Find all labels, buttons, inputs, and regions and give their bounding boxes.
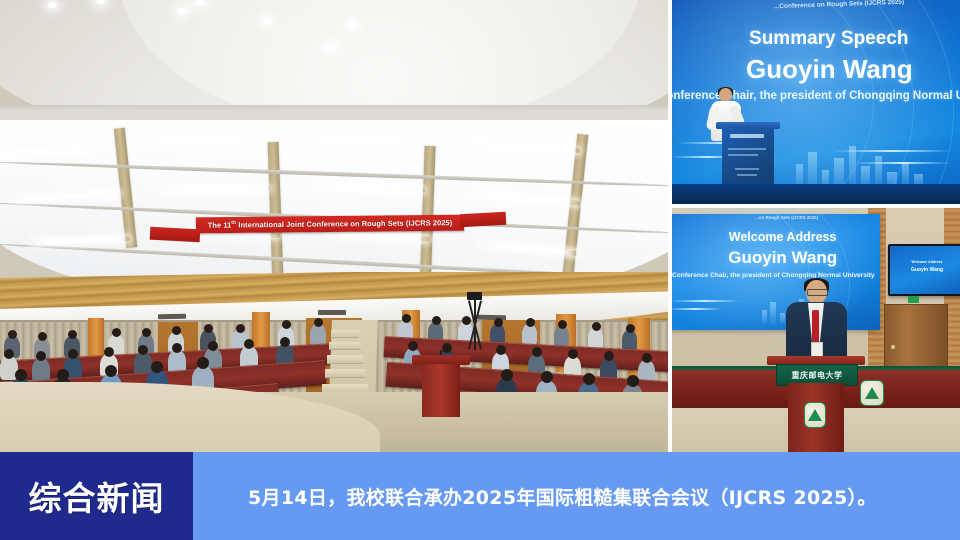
speaker-badge	[811, 342, 823, 357]
audience-head	[172, 343, 182, 353]
exit-sign-icon	[908, 296, 919, 303]
audience-head	[15, 369, 27, 381]
lectern-logo	[730, 134, 764, 138]
speaker-head	[719, 88, 732, 102]
audience-head	[38, 332, 47, 341]
podium: 重庆邮电大学	[772, 356, 860, 452]
lectern-text-line	[728, 154, 758, 156]
lectern-text-line	[735, 168, 759, 170]
monitor-line1: Welcome Address	[912, 260, 943, 264]
audience-person	[32, 358, 50, 382]
red-banner-right-tail	[460, 212, 507, 227]
audience-head	[138, 345, 148, 355]
ceiling-downlight	[178, 8, 187, 14]
podium-nameplate-text: 重庆邮电大学	[792, 370, 843, 381]
audience-head	[408, 341, 418, 351]
audience-head	[172, 326, 181, 335]
air-vent	[158, 314, 186, 319]
main-auditorium-photo: The 11th International Joint Conference …	[0, 0, 668, 452]
emblem-triangle	[808, 409, 822, 421]
audience-head	[36, 351, 46, 361]
audience-head	[432, 316, 441, 325]
light-streak	[672, 308, 722, 310]
audience-head	[8, 330, 17, 339]
audience-head	[57, 369, 69, 381]
audience-head	[142, 328, 151, 337]
light-streak	[852, 162, 952, 164]
podium-emblem	[804, 402, 826, 428]
audience-head	[526, 318, 535, 327]
conference-red-banner: The 11th International Joint Conference …	[196, 215, 464, 234]
red-banner-left-tail	[150, 227, 201, 243]
ceiling-downlight	[196, 0, 205, 6]
slide-title-line2: Guoyin Wang	[728, 248, 837, 268]
audience-person	[522, 324, 537, 345]
audience-head	[208, 341, 218, 351]
audience-head	[151, 361, 163, 373]
caption-text: 5月14日，我校联合承办2025年国际粗糙集联合会议（IJCRS 2025）。	[248, 483, 877, 510]
slide-subtitle: Conference Chair, the president of Chong…	[672, 272, 875, 279]
ceiling-downlight	[48, 2, 57, 8]
video-camera	[467, 292, 482, 300]
audience-head	[558, 320, 567, 329]
camera-tripod	[462, 292, 488, 350]
ceiling-light-strip	[160, 186, 270, 191]
audience-head	[68, 349, 78, 359]
audience-head	[442, 343, 452, 353]
audience-head	[494, 318, 503, 327]
audience-head	[496, 345, 506, 355]
monitor-line2: Guoyin Wang	[911, 267, 943, 273]
audience-head	[627, 375, 639, 387]
audience-head	[501, 369, 513, 381]
audience-head	[592, 322, 601, 331]
aisle-step	[325, 369, 365, 378]
audience-head	[236, 324, 245, 333]
audience-head	[282, 320, 291, 329]
emblem-triangle	[865, 387, 879, 399]
audience-head	[197, 357, 209, 369]
audience-head	[402, 314, 411, 323]
skyline-tower	[762, 310, 767, 324]
hall-podium	[418, 355, 464, 417]
audience-head	[532, 347, 542, 357]
audience-head	[314, 318, 323, 327]
audience-head	[112, 328, 121, 337]
lectern-text-line	[737, 174, 757, 176]
light-streak	[832, 150, 952, 152]
audience-head	[604, 351, 614, 361]
university-emblem	[860, 380, 884, 406]
audience-head	[68, 330, 77, 339]
slide-title-line2: Guoyin Wang	[746, 54, 913, 85]
category-tag-text: 综合新闻	[29, 472, 165, 520]
audience-head	[204, 324, 213, 333]
skyline-tower	[770, 302, 776, 324]
slide-title-line1: Summary Speech	[749, 28, 908, 50]
bottom-right-photo: ...on Rough Sets (IJCRS 2025) Welcome Ad…	[672, 208, 960, 452]
lectern-text-line	[728, 148, 766, 150]
stage-floor	[672, 184, 960, 204]
audience-head	[280, 337, 290, 347]
caption-body: 5月14日，我校联合承办2025年国际粗糙集联合会议（IJCRS 2025）。	[193, 452, 960, 540]
light-streak	[672, 300, 740, 302]
audience-head	[583, 373, 595, 385]
news-image-composite: The 11th International Joint Conference …	[0, 0, 960, 540]
red-banner-text: The 11th International Joint Conference …	[208, 218, 453, 230]
ceiling-downlight	[326, 44, 335, 50]
speaker-glasses	[807, 289, 828, 296]
speaker-lanyard	[812, 310, 819, 346]
category-tag: 综合新闻	[0, 452, 193, 540]
audience-head	[626, 324, 635, 333]
audience-head	[244, 339, 254, 349]
wall-monitor: Welcome Address Guoyin Wang	[888, 244, 960, 296]
aisle-step	[331, 330, 359, 338]
caption-bar: 综合新闻 5月14日，我校联合承办2025年国际粗糙集联合会议（IJCRS 20…	[0, 452, 960, 540]
audience-person	[588, 328, 603, 349]
audience-head	[104, 347, 114, 357]
podium-body	[422, 364, 460, 417]
slide-title-line1: Welcome Address	[729, 230, 837, 244]
air-vent	[318, 310, 346, 315]
audience-head	[4, 349, 14, 359]
audience-head	[642, 353, 652, 363]
audience-head	[541, 371, 553, 383]
door-knob[interactable]	[891, 345, 895, 349]
slide-header-text: ...on Rough Sets (IJCRS 2025)	[755, 215, 818, 220]
audience-person	[554, 326, 569, 347]
aisle-step	[327, 355, 363, 364]
ceiling-downlight	[348, 22, 357, 28]
top-right-photo: ...Conference on Rough Sets (IJCRS 2025)…	[672, 0, 960, 204]
ceiling-downlight	[262, 18, 271, 24]
audience-head	[105, 365, 117, 377]
aisle-step	[329, 342, 361, 350]
audience-head	[568, 349, 578, 359]
